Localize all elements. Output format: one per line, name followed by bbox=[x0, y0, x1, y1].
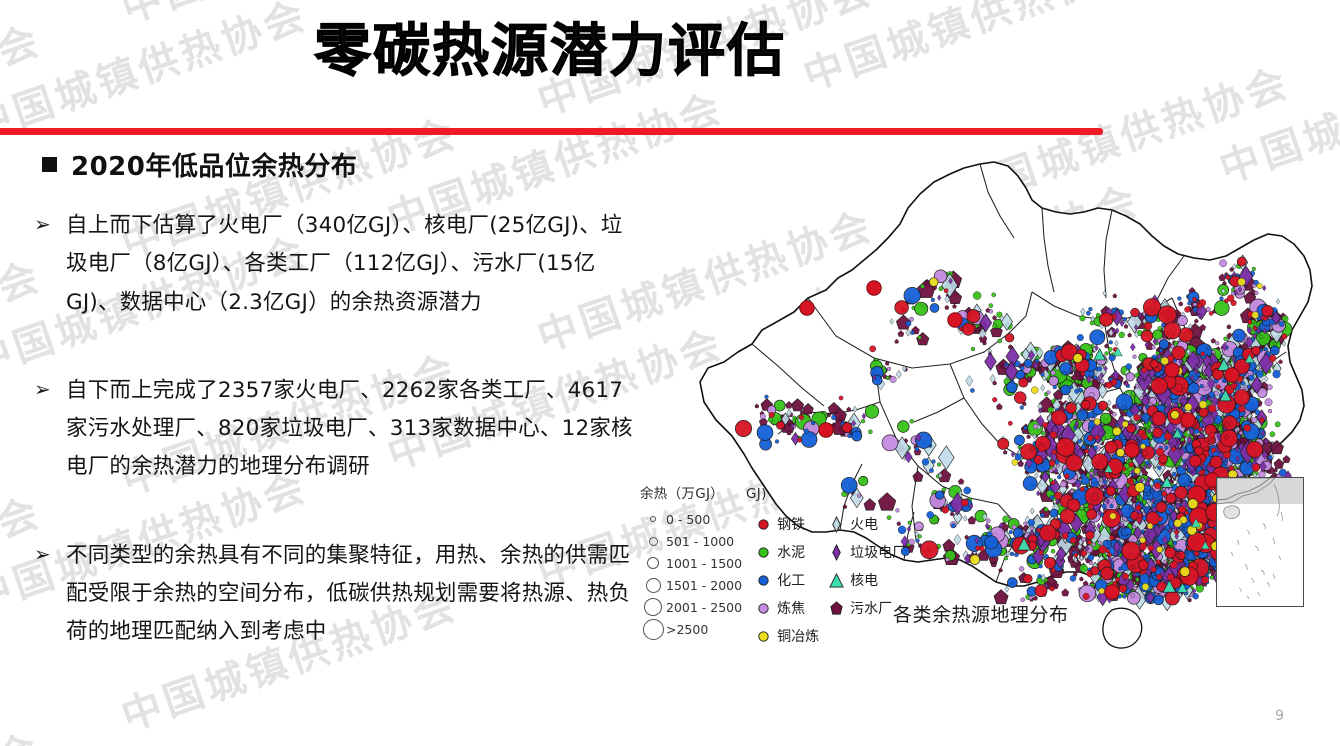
map-data-point bbox=[882, 435, 898, 451]
map-data-point bbox=[1223, 416, 1237, 430]
map-data-point bbox=[890, 376, 897, 383]
map-data-point bbox=[1051, 370, 1056, 375]
map-data-point bbox=[1141, 434, 1147, 440]
map-data-point bbox=[1164, 433, 1171, 440]
legend-size-classes: 0 - 500501 - 10001001 - 15001501 - 20002… bbox=[640, 510, 742, 638]
map-data-point bbox=[1155, 456, 1159, 460]
map-data-point bbox=[1039, 550, 1043, 554]
map-data-point bbox=[760, 414, 765, 419]
map-data-point bbox=[1088, 412, 1094, 418]
map-data-point bbox=[1085, 449, 1089, 453]
map-data-point bbox=[1099, 313, 1113, 327]
map-data-point bbox=[1200, 384, 1204, 388]
map-data-point bbox=[1097, 366, 1102, 371]
map-data-point bbox=[930, 303, 939, 312]
map-data-point bbox=[1153, 428, 1163, 438]
bullet-text: 自下而上完成了2357家火电厂、2262家各类工厂、4617家污水处理厂、820… bbox=[66, 372, 644, 487]
content-column: 2020年低品位余热分布 ➢ 自上而下估算了火电厂（340亿GJ）、核电厂(25… bbox=[0, 146, 660, 706]
map-data-point bbox=[1208, 405, 1216, 413]
map-data-point bbox=[870, 346, 876, 352]
section-heading: 2020年低品位余热分布 bbox=[42, 146, 660, 183]
map-data-point bbox=[971, 347, 975, 351]
map-data-point bbox=[937, 463, 941, 467]
map-data-point bbox=[1049, 460, 1055, 466]
map-data-point bbox=[1180, 567, 1190, 577]
map-data-point bbox=[1199, 408, 1208, 417]
map-data-point bbox=[1185, 511, 1189, 515]
map-data-point bbox=[1020, 406, 1024, 410]
map-data-point bbox=[986, 519, 990, 523]
map-data-point bbox=[1098, 401, 1107, 410]
map-data-point bbox=[1074, 553, 1078, 557]
map-data-point bbox=[1057, 475, 1061, 479]
map-data-point bbox=[1182, 388, 1187, 393]
legend-category-column-left: 钢铁水泥化工炼焦铜冶炼 bbox=[756, 514, 819, 646]
map-data-point bbox=[1133, 355, 1137, 359]
legend-category-label: 化工 bbox=[777, 570, 805, 590]
title-underline-rule bbox=[0, 128, 1103, 135]
map-data-point bbox=[935, 491, 944, 500]
map-data-point bbox=[1062, 533, 1068, 539]
map-data-point bbox=[1122, 542, 1140, 560]
map-data-point bbox=[1056, 438, 1074, 456]
map-data-point bbox=[831, 415, 836, 420]
map-data-point bbox=[1077, 439, 1081, 443]
legend-title: 余热（万GJ）GJ) bbox=[640, 482, 906, 502]
map-data-point bbox=[1134, 414, 1140, 420]
map-data-point bbox=[848, 434, 852, 438]
map-data-point bbox=[1147, 492, 1151, 496]
map-data-point bbox=[1150, 490, 1154, 494]
map-data-point bbox=[1144, 322, 1152, 330]
arrow-bullet-icon: ➢ bbox=[34, 207, 56, 240]
map-data-point bbox=[1061, 385, 1071, 395]
map-data-point bbox=[1157, 546, 1163, 552]
map-data-point bbox=[915, 447, 919, 451]
map-data-point bbox=[906, 321, 911, 326]
map-data-point bbox=[868, 430, 872, 434]
map-data-point bbox=[920, 541, 938, 559]
map-data-point bbox=[798, 438, 802, 442]
map-data-point bbox=[1081, 400, 1090, 409]
map-data-point bbox=[1138, 560, 1148, 570]
map-data-point bbox=[1163, 560, 1167, 564]
legend-category-row: 钢铁 bbox=[756, 514, 819, 534]
map-data-point bbox=[1050, 509, 1058, 517]
map-data-point bbox=[886, 376, 890, 380]
map-data-point bbox=[929, 469, 933, 473]
map-data-point bbox=[1253, 326, 1257, 330]
slide-root: 中国城镇供热协会 中国城镇供热协会 中国城镇供热协会 中国城镇供热协会 中国城镇… bbox=[0, 0, 1340, 746]
map-data-point bbox=[1173, 541, 1177, 545]
map-data-point bbox=[1136, 505, 1141, 510]
map-data-point bbox=[1187, 598, 1191, 602]
map-data-point bbox=[1049, 376, 1059, 386]
map-data-point bbox=[895, 301, 909, 315]
map-data-point bbox=[1140, 543, 1147, 550]
map-data-point bbox=[1201, 352, 1205, 356]
legend-size-row: 2001 - 2500 bbox=[640, 598, 742, 616]
circle-marker-icon bbox=[756, 600, 771, 617]
map-data-point bbox=[1129, 462, 1134, 467]
map-data-point bbox=[1174, 530, 1178, 534]
map-data-point bbox=[942, 488, 946, 492]
map-data-point bbox=[1154, 482, 1160, 488]
map-data-point bbox=[970, 555, 980, 565]
map-data-point bbox=[909, 539, 915, 545]
circle-marker-icon bbox=[756, 516, 771, 533]
legend-category-label: 炼焦 bbox=[777, 598, 805, 618]
map-data-point bbox=[1156, 574, 1162, 580]
map-data-point bbox=[1131, 308, 1140, 317]
map-data-point bbox=[1166, 493, 1176, 503]
legend-title-suffix: GJ) bbox=[746, 486, 767, 502]
map-data-point bbox=[973, 292, 981, 300]
map-data-point bbox=[1040, 513, 1044, 517]
bullet-text: 不同类型的余热具有不同的集聚特征，用热、余热的供需匹配受限于余热的空间分布，低碳… bbox=[66, 537, 644, 652]
legend-size-circle-icon bbox=[640, 557, 666, 569]
map-data-point bbox=[1187, 301, 1191, 305]
map-data-point bbox=[1081, 445, 1086, 450]
map-data-point bbox=[1125, 528, 1132, 535]
map-data-point bbox=[1224, 422, 1229, 427]
map-data-point bbox=[916, 539, 920, 543]
legend-category-row: 化工 bbox=[756, 570, 819, 590]
map-data-point bbox=[1210, 438, 1214, 442]
map-data-point bbox=[927, 511, 934, 518]
map-data-point bbox=[1096, 313, 1100, 317]
map-data-point bbox=[1157, 466, 1161, 470]
legend-size-circle-icon bbox=[640, 578, 666, 593]
legend-size-row: 1501 - 2000 bbox=[640, 576, 742, 594]
map-data-point bbox=[918, 535, 922, 539]
map-data-point bbox=[1146, 554, 1150, 558]
map-data-point bbox=[915, 302, 928, 315]
map-data-point bbox=[1087, 435, 1093, 441]
map-data-point bbox=[1052, 410, 1067, 425]
map-data-point bbox=[1129, 505, 1133, 509]
map-data-point bbox=[1188, 478, 1192, 482]
map-data-point bbox=[1050, 586, 1055, 591]
map-data-point bbox=[1015, 454, 1022, 461]
map-data-point bbox=[1165, 547, 1176, 558]
map-data-point bbox=[932, 460, 936, 464]
map-data-point bbox=[1156, 502, 1167, 513]
map-data-point bbox=[1275, 422, 1280, 427]
map-data-point bbox=[1129, 480, 1134, 485]
map-data-point bbox=[1239, 431, 1243, 435]
map-data-point bbox=[1004, 556, 1008, 560]
map-data-point bbox=[1248, 320, 1253, 325]
map-data-point bbox=[1131, 565, 1135, 569]
map-data-point bbox=[1159, 348, 1163, 352]
map-data-point bbox=[852, 431, 862, 441]
map-data-point bbox=[1070, 537, 1076, 543]
map-data-point bbox=[1019, 566, 1024, 571]
map-data-point bbox=[1042, 422, 1048, 428]
map-data-point bbox=[1170, 561, 1177, 568]
map-data-point bbox=[1080, 507, 1084, 511]
map-data-point bbox=[1171, 447, 1175, 451]
legend-size-label: 0 - 500 bbox=[666, 512, 710, 527]
map-data-point bbox=[1143, 495, 1148, 500]
map-data-point bbox=[942, 506, 949, 513]
map-data-point bbox=[909, 317, 913, 321]
map-data-point bbox=[1164, 322, 1181, 339]
map-data-point-large bbox=[867, 281, 881, 295]
map-data-point bbox=[1127, 592, 1140, 605]
map-data-point bbox=[1005, 586, 1009, 592]
map-data-point bbox=[1167, 574, 1174, 581]
map-data-point bbox=[1073, 353, 1082, 362]
arrow-bullet-icon: ➢ bbox=[34, 537, 56, 570]
map-data-point bbox=[1231, 383, 1237, 389]
map-data-point bbox=[1079, 577, 1083, 581]
map-data-point bbox=[1122, 573, 1128, 579]
map-data-point bbox=[1211, 448, 1216, 453]
map-data-point bbox=[1051, 481, 1055, 485]
map-data-point bbox=[765, 395, 769, 399]
map-data-point bbox=[1193, 593, 1199, 599]
legend-categories: 钢铁水泥化工炼焦铜冶炼 火电垃圾电厂核电污水厂 bbox=[756, 514, 906, 646]
square-bullet-icon bbox=[42, 157, 57, 172]
map-data-point bbox=[1051, 549, 1055, 553]
map-data-point bbox=[1014, 435, 1024, 445]
map-data-point bbox=[1086, 531, 1094, 539]
map-data-point bbox=[1252, 417, 1257, 422]
map-data-point bbox=[1095, 435, 1100, 440]
map-data-point bbox=[811, 421, 815, 425]
map-data-point bbox=[1105, 352, 1109, 356]
legend-size-label: 1001 - 1500 bbox=[666, 556, 742, 571]
map-data-point bbox=[1038, 574, 1042, 578]
map-data-point bbox=[922, 458, 929, 465]
legend-size-label: >2500 bbox=[666, 622, 708, 637]
map-data-point bbox=[1205, 447, 1209, 451]
legend-size-label: 1501 - 2000 bbox=[666, 578, 742, 593]
map-data-point bbox=[989, 303, 993, 307]
map-data-point bbox=[1142, 451, 1148, 457]
map-data-point bbox=[1267, 384, 1272, 389]
map-data-point bbox=[1107, 553, 1111, 557]
map-data-point bbox=[1189, 455, 1201, 467]
map-data-point bbox=[865, 405, 879, 419]
map-data-point bbox=[1050, 431, 1057, 438]
map-data-point bbox=[1177, 316, 1187, 326]
map-data-point bbox=[1135, 482, 1145, 492]
map-data-point bbox=[967, 309, 980, 322]
legend-size-circle-icon bbox=[640, 516, 666, 522]
circle-marker-icon bbox=[756, 572, 771, 589]
map-data-point bbox=[1274, 459, 1284, 469]
map-data-point bbox=[1215, 341, 1219, 345]
south-china-sea-inset bbox=[1216, 477, 1304, 607]
map-data-point bbox=[1224, 299, 1228, 303]
list-item: ➢ 自下而上完成了2357家火电厂、2262家各类工厂、4617家污水处理厂、8… bbox=[34, 372, 644, 487]
map-data-point-large bbox=[800, 301, 814, 315]
map-data-point bbox=[897, 421, 909, 433]
map-data-point bbox=[1081, 372, 1085, 376]
map-data-point bbox=[1112, 412, 1116, 416]
map-data-point bbox=[1086, 311, 1090, 315]
map-data-point bbox=[1100, 413, 1111, 424]
map-data-point bbox=[970, 388, 974, 392]
bullet-list: ➢ 自上而下估算了火电厂（340亿GJ）、核电厂(25亿GJ)、垃圾电厂（8亿G… bbox=[0, 207, 660, 651]
map-data-point bbox=[1233, 329, 1246, 342]
map-data-point bbox=[1257, 283, 1263, 289]
map-data-point bbox=[1246, 441, 1262, 457]
map-data-point bbox=[1123, 595, 1127, 599]
map-data-point bbox=[1116, 448, 1125, 457]
map-data-point-large bbox=[1165, 363, 1179, 377]
legend-category-label: 水泥 bbox=[777, 542, 805, 562]
map-data-point bbox=[1098, 541, 1102, 545]
map-data-point bbox=[776, 421, 784, 429]
map-data-point bbox=[1066, 403, 1077, 414]
map-data-point bbox=[1050, 495, 1054, 499]
map-data-point bbox=[1119, 584, 1127, 592]
map-data-point bbox=[887, 367, 891, 371]
map-data-point-large bbox=[1181, 413, 1195, 427]
map-data-point bbox=[979, 546, 984, 551]
map-data-point bbox=[1152, 411, 1166, 425]
map-data-point bbox=[1268, 409, 1272, 413]
map-data-point bbox=[1087, 509, 1097, 519]
map-data-point bbox=[1020, 366, 1024, 370]
map-data-point bbox=[1283, 455, 1291, 463]
map-data-point bbox=[1171, 410, 1180, 419]
map-data-point bbox=[985, 536, 998, 549]
map-data-point bbox=[1150, 360, 1158, 368]
arrow-bullet-icon: ➢ bbox=[34, 372, 56, 405]
map-data-point bbox=[735, 420, 751, 436]
map-data-point bbox=[1122, 421, 1128, 427]
map-data-point bbox=[861, 419, 865, 423]
map-data-point bbox=[1119, 332, 1125, 338]
map-data-point bbox=[1110, 536, 1114, 540]
map-data-point bbox=[1175, 486, 1188, 499]
bullet-text: 自上而下估算了火电厂（340亿GJ）、核电厂(25亿GJ)、垃圾电厂（8亿GJ）… bbox=[66, 207, 644, 322]
map-data-point bbox=[1262, 305, 1273, 316]
map-data-point bbox=[1031, 387, 1038, 394]
map-data-point bbox=[908, 521, 912, 525]
map-data-point bbox=[1172, 472, 1176, 476]
map-data-point bbox=[910, 331, 914, 335]
legend-size-label: 501 - 1000 bbox=[666, 534, 734, 549]
map-data-point bbox=[1175, 384, 1183, 392]
map-data-point bbox=[1064, 474, 1069, 479]
map-data-point bbox=[945, 558, 949, 562]
map-data-point bbox=[1009, 530, 1013, 534]
map-data-point bbox=[1088, 554, 1094, 560]
map-data-point-large bbox=[948, 313, 962, 327]
legend-body: 0 - 500501 - 10001001 - 15001501 - 20002… bbox=[640, 508, 906, 646]
map-data-point bbox=[1110, 513, 1117, 520]
map-data-point bbox=[1088, 504, 1094, 510]
map-data-point bbox=[1198, 427, 1202, 431]
legend-category-row: 炼焦 bbox=[756, 598, 819, 618]
map-data-point bbox=[1273, 370, 1281, 378]
map-data-point bbox=[1252, 312, 1259, 319]
map-data-point bbox=[1101, 567, 1114, 580]
map-data-point bbox=[1060, 481, 1066, 487]
map-data-point bbox=[1199, 401, 1207, 409]
map-data-point bbox=[1044, 557, 1055, 568]
map-data-point bbox=[1224, 337, 1228, 341]
map-data-point bbox=[1159, 339, 1169, 349]
map-data-point bbox=[1008, 421, 1012, 425]
legend-size-circle-icon bbox=[640, 598, 666, 616]
map-data-point bbox=[1204, 437, 1209, 442]
map-data-point bbox=[1270, 346, 1279, 355]
map-data-point bbox=[1092, 454, 1108, 470]
map-data-point bbox=[1105, 549, 1109, 553]
map-data-point bbox=[929, 278, 938, 287]
map-data-point bbox=[1172, 346, 1185, 359]
map-data-point bbox=[1256, 371, 1263, 378]
map-data-point bbox=[1161, 357, 1169, 365]
map-data-point bbox=[1151, 378, 1168, 395]
map-data-point bbox=[1165, 446, 1169, 450]
map-data-point-large bbox=[1105, 585, 1119, 599]
map-legend: 余热（万GJ）GJ) 0 - 500501 - 10001001 - 15001… bbox=[640, 482, 906, 646]
map-data-point bbox=[1133, 586, 1137, 590]
map-data-point bbox=[1282, 334, 1288, 340]
map-data-point bbox=[1221, 430, 1238, 447]
legend-size-label: 2001 - 2500 bbox=[666, 600, 742, 615]
map-data-point bbox=[1177, 297, 1181, 301]
hainan-outline bbox=[1103, 608, 1142, 648]
map-data-point bbox=[1109, 499, 1114, 504]
map-data-point bbox=[1081, 477, 1089, 485]
map-data-point bbox=[839, 396, 843, 400]
map-data-point bbox=[1109, 340, 1113, 344]
map-data-point bbox=[1007, 578, 1017, 588]
map-data-point bbox=[1185, 403, 1192, 410]
map-data-point bbox=[1226, 275, 1231, 280]
map-data-point bbox=[961, 499, 968, 506]
map-data-point bbox=[964, 487, 971, 494]
map-data-point bbox=[1023, 574, 1032, 583]
section-heading-label: 2020年低品位余热分布 bbox=[71, 146, 357, 183]
map-data-point bbox=[1033, 424, 1038, 429]
map-data-point bbox=[1252, 464, 1260, 472]
map-data-point bbox=[1165, 591, 1179, 605]
map-data-point bbox=[1060, 509, 1075, 524]
map-data-point bbox=[1070, 575, 1076, 581]
map-data-point bbox=[1264, 347, 1268, 351]
map-data-point bbox=[1030, 447, 1034, 451]
map-data-point bbox=[1259, 418, 1264, 423]
map-data-point bbox=[1126, 373, 1134, 381]
map-data-point bbox=[1105, 441, 1117, 453]
map-data-point bbox=[1152, 355, 1156, 359]
map-data-point bbox=[1080, 564, 1088, 572]
map-data-point bbox=[1023, 522, 1027, 526]
map-data-point bbox=[1216, 385, 1220, 389]
map-data-point bbox=[1012, 459, 1018, 465]
legend-category-label: 钢铁 bbox=[777, 514, 805, 534]
map-data-point bbox=[1108, 347, 1112, 351]
map-data-point bbox=[1077, 334, 1084, 341]
map-data-point bbox=[1080, 487, 1085, 492]
map-data-point bbox=[1158, 517, 1163, 522]
map-data-point bbox=[998, 438, 1009, 449]
map-data-point bbox=[1047, 391, 1051, 395]
legend-size-row: >2500 bbox=[640, 620, 742, 638]
map-data-point bbox=[1089, 307, 1093, 311]
map-data-point bbox=[1153, 330, 1163, 340]
